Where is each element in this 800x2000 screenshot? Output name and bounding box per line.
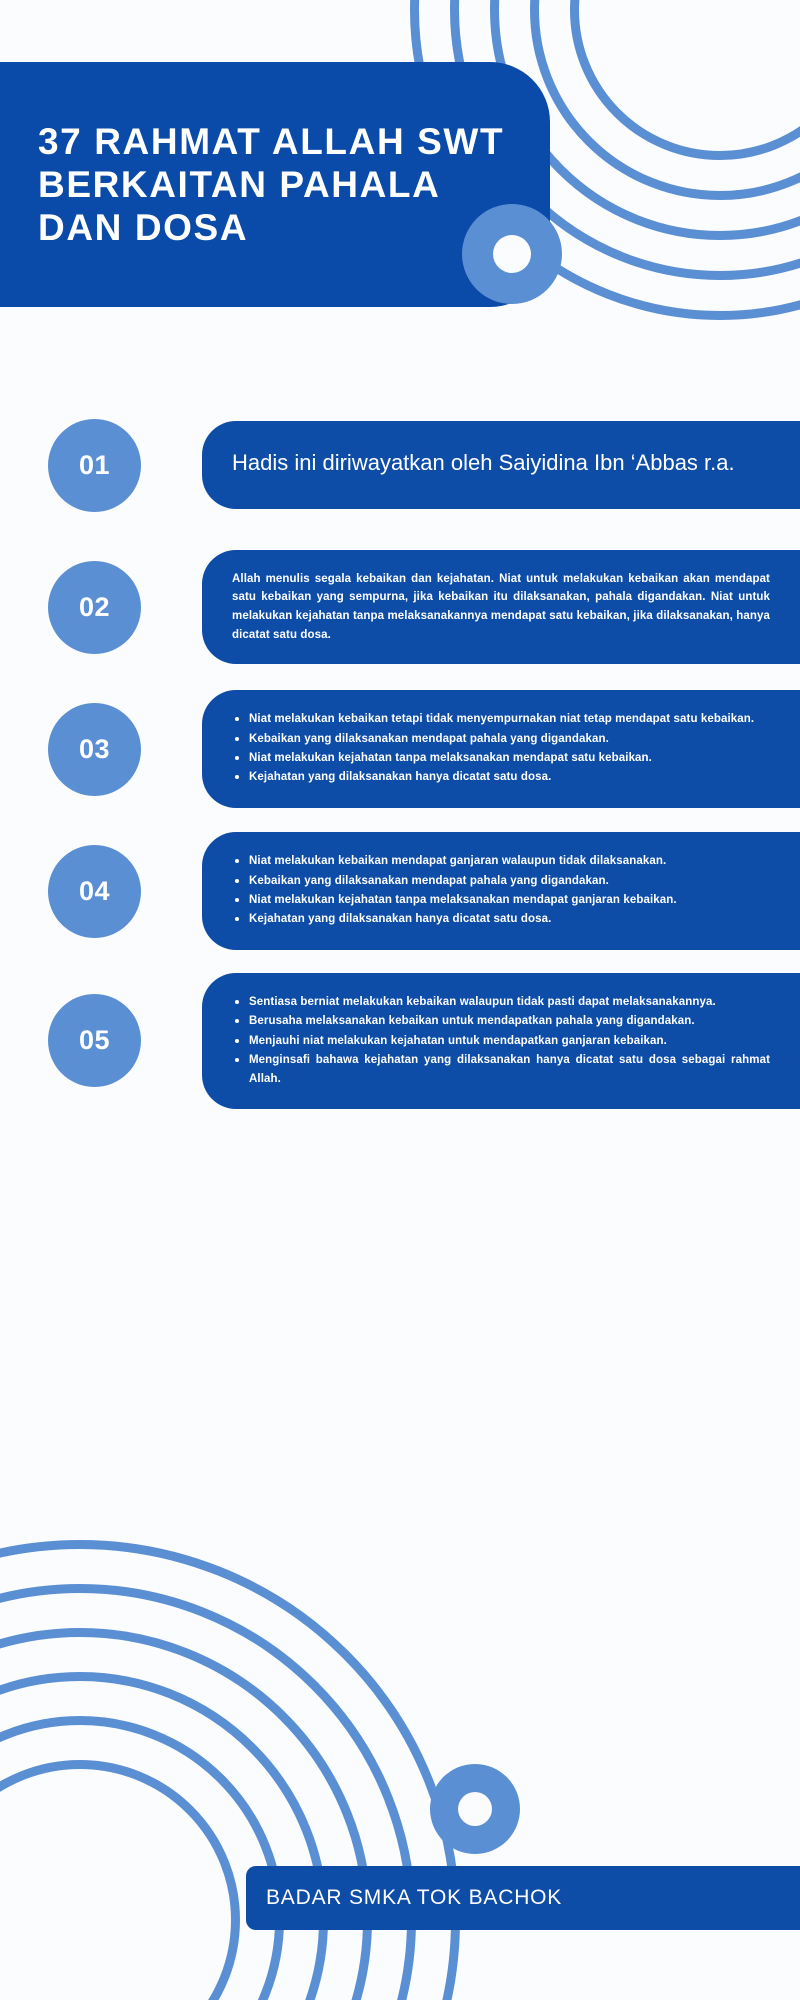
bullet-item: Berusaha melaksanakan kebaikan untuk men… bbox=[232, 1012, 770, 1030]
step-card: Allah menulis segala kebaikan dan kejaha… bbox=[202, 550, 800, 665]
footer-label: BADAR SMKA TOK BACHOK bbox=[246, 1886, 562, 1910]
step-bullet-list: Niat melakukan kebaikan tetapi tidak men… bbox=[232, 710, 770, 787]
list-item: 02 Allah menulis segala kebaikan dan kej… bbox=[0, 547, 800, 667]
arc-ring bbox=[0, 1584, 416, 2000]
bullet-item: Menjauhi niat melakukan kejahatan untuk … bbox=[232, 1032, 770, 1050]
bullet-item: Kejahatan yang dilaksanakan hanya dicata… bbox=[232, 910, 770, 928]
list-item: 05 Sentiasa berniat melakukan kebaikan w… bbox=[0, 973, 800, 1109]
step-card: Sentiasa berniat melakukan kebaikan wala… bbox=[202, 973, 800, 1109]
step-text: Allah menulis segala kebaikan dan kejaha… bbox=[232, 570, 770, 645]
bullet-item: Kebaikan yang dilaksanakan mendapat paha… bbox=[232, 872, 770, 890]
arc-ring bbox=[0, 1716, 284, 2000]
step-text: Hadis ini diriwayatkan oleh Saiyidina Ib… bbox=[232, 447, 770, 478]
footer-banner: BADAR SMKA TOK BACHOK bbox=[246, 1866, 800, 1930]
bullet-item: Sentiasa berniat melakukan kebaikan wala… bbox=[232, 993, 770, 1011]
step-card: Niat melakukan kebaikan tetapi tidak men… bbox=[202, 690, 800, 808]
step-bullet-list: Sentiasa berniat melakukan kebaikan wala… bbox=[232, 993, 770, 1088]
list-item: 01 Hadis ini diriwayatkan oleh Saiyidina… bbox=[0, 405, 800, 525]
bullet-item: Kebaikan yang dilaksanakan mendapat paha… bbox=[232, 730, 770, 748]
infographic-page: 37 RAHMAT ALLAH SWT BERKAITAN PAHALA DAN… bbox=[0, 0, 800, 2000]
step-number-badge: 01 bbox=[48, 419, 141, 512]
arc-ring bbox=[0, 1628, 372, 2000]
step-number-badge: 02 bbox=[48, 561, 141, 654]
step-number-badge: 04 bbox=[48, 845, 141, 938]
arc-ring bbox=[0, 1540, 460, 2000]
header-ring-hole bbox=[493, 235, 531, 273]
list-item: 04 Niat melakukan kebaikan mendapat ganj… bbox=[0, 831, 800, 951]
footer-ring-decoration bbox=[430, 1764, 520, 1854]
bullet-item: Kejahatan yang dilaksanakan hanya dicata… bbox=[232, 768, 770, 786]
step-bullet-list: Niat melakukan kebaikan mendapat ganjara… bbox=[232, 852, 770, 929]
step-card: Niat melakukan kebaikan mendapat ganjara… bbox=[202, 832, 800, 950]
step-card: Hadis ini diriwayatkan oleh Saiyidina Ib… bbox=[202, 421, 800, 508]
bullet-item: Niat melakukan kebaikan tetapi tidak men… bbox=[232, 710, 770, 728]
bullet-item: Niat melakukan kejahatan tanpa melaksana… bbox=[232, 891, 770, 909]
header-ring-decoration bbox=[462, 204, 562, 304]
arc-ring bbox=[530, 0, 800, 200]
steps-list: 01 Hadis ini diriwayatkan oleh Saiyidina… bbox=[0, 405, 800, 1109]
arc-ring bbox=[0, 1760, 240, 2000]
footer-ring-hole bbox=[458, 1792, 492, 1826]
bullet-item: Niat melakukan kejahatan tanpa melaksana… bbox=[232, 749, 770, 767]
arc-ring bbox=[0, 1672, 328, 2000]
list-item: 03 Niat melakukan kebaikan tetapi tidak … bbox=[0, 689, 800, 809]
step-number-badge: 03 bbox=[48, 703, 141, 796]
bullet-item: Menginsafi bahawa kejahatan yang dilaksa… bbox=[232, 1051, 770, 1088]
arc-ring bbox=[570, 0, 800, 160]
step-number-badge: 05 bbox=[48, 994, 141, 1087]
decorative-arcs-bottom-left bbox=[0, 1540, 460, 2000]
bullet-item: Niat melakukan kebaikan mendapat ganjara… bbox=[232, 852, 770, 870]
